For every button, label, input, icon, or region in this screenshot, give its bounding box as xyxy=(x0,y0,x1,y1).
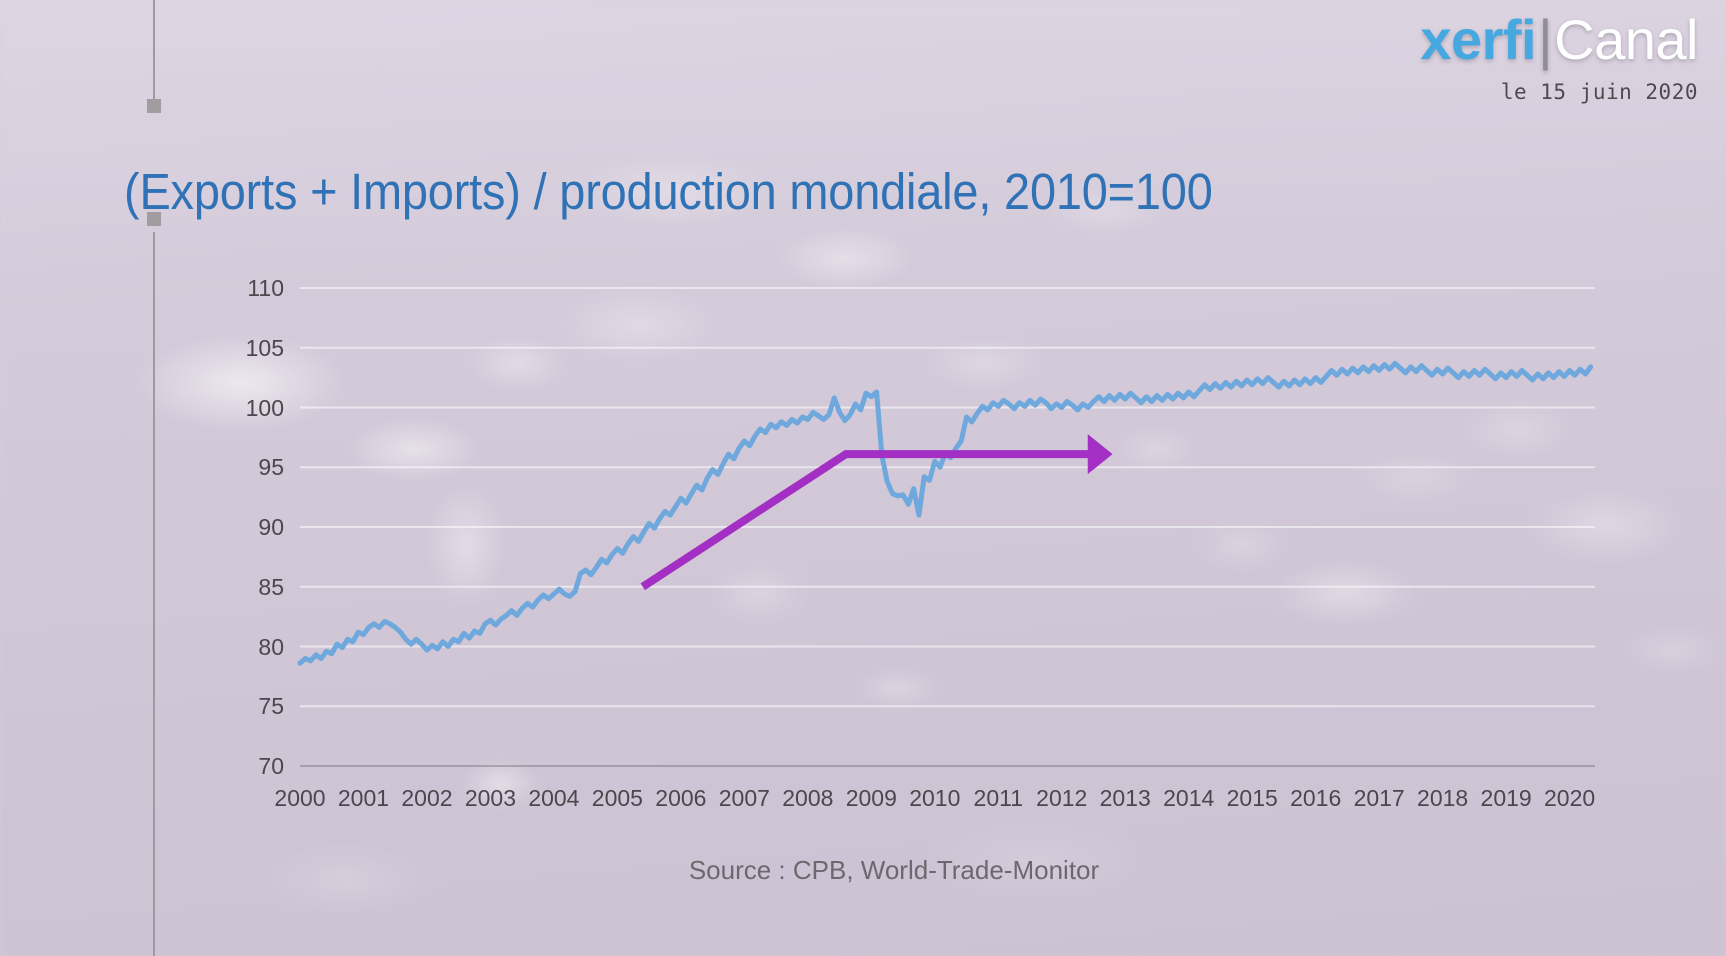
brand-logo-canal: Canal xyxy=(1554,8,1698,71)
brand-block: xerfi|Canal le 15 juin 2020 xyxy=(1420,12,1698,103)
source-note: Source : CPB, World-Trade-Monitor xyxy=(0,855,1726,886)
background-overlay xyxy=(0,0,1726,956)
source-note-text: Source : CPB, World-Trade-Monitor xyxy=(689,855,1099,885)
brand-logo-separator: | xyxy=(1538,8,1552,71)
brand-logo-xerfi: xerfi xyxy=(1420,8,1536,71)
publication-date: le 15 juin 2020 xyxy=(1420,82,1698,103)
decorative-vertical-rule-top xyxy=(153,0,155,104)
decorative-square-top xyxy=(147,99,161,113)
decorative-vertical-rule-bottom xyxy=(153,232,155,956)
brand-logo[interactable]: xerfi|Canal xyxy=(1420,12,1698,68)
page-title: (Exports + Imports) / production mondial… xyxy=(124,162,1213,221)
